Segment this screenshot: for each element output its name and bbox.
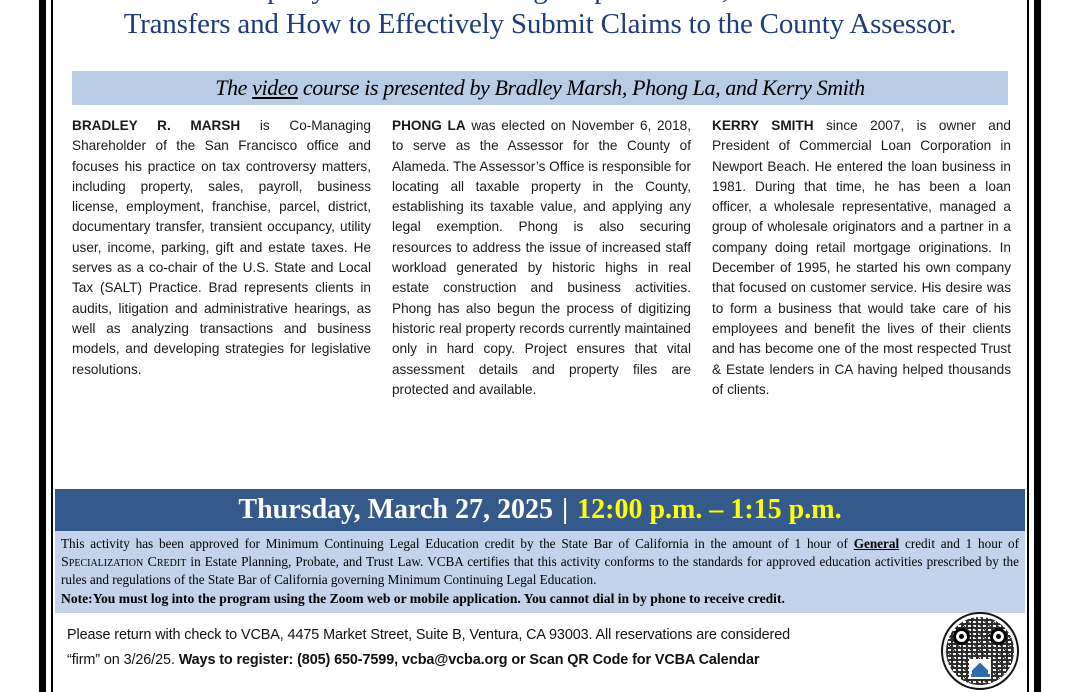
presenter-text: The video course is presented by Bradley… xyxy=(215,75,864,101)
speaker-bios: BRADLEY R. MARSH is Co-Managing Sharehol… xyxy=(72,116,1012,400)
datetime-separator: | xyxy=(553,494,577,526)
bio-kerry-smith: KERRY SMITH since 2007, is owner and Pre… xyxy=(712,116,1011,400)
logo-base-shape xyxy=(971,674,990,677)
presenter-suffix: course is presented by Bradley Marsh, Ph… xyxy=(298,75,865,100)
flyer-page: in Property Tax Law including Propositio… xyxy=(0,0,1080,675)
mcle-part-3: in Estate Planning, Probate, and Trust L… xyxy=(61,554,1019,588)
presenter-prefix: The xyxy=(215,75,252,100)
presenter-banner: The video course is presented by Bradley… xyxy=(72,71,1008,105)
footer-line-2: “firm” on 3/26/25. Ways to register: (80… xyxy=(67,648,1025,673)
bio-bradley-marsh: BRADLEY R. MARSH is Co-Managing Sharehol… xyxy=(72,116,371,400)
zoom-note: Note:You must log into the program using… xyxy=(61,590,1019,608)
bio-text-1: was elected on November 6, 2018, to serv… xyxy=(392,118,691,397)
presenter-underlined-word: video xyxy=(252,75,298,100)
title-line-1: in Property Tax Law including Propositio… xyxy=(55,0,1025,7)
registration-footer: Please return with check to VCBA, 4475 M… xyxy=(55,613,1025,675)
mcle-part-1: This activity has been approved for Mini… xyxy=(61,536,854,551)
footer-firm-date: “firm” on 3/26/25. xyxy=(67,652,179,668)
vcba-logo-icon xyxy=(969,659,991,679)
qr-finder-top-right-icon xyxy=(990,628,1007,645)
footer-line-1: Please return with check to VCBA, 4475 M… xyxy=(67,623,1025,648)
mcle-general-credit: General xyxy=(854,536,899,551)
event-datetime-bar: Thursday, March 27, 2025 | 12:00 p.m. – … xyxy=(55,489,1025,531)
qr-code[interactable] xyxy=(941,612,1019,690)
page-title: in Property Tax Law including Propositio… xyxy=(55,0,1025,42)
event-date: Thursday, March 27, 2025 xyxy=(238,494,553,526)
qr-finder-top-left-icon xyxy=(953,628,970,645)
mcle-specialization-credit: Specialization Credit xyxy=(61,555,186,570)
bio-phong-la: PHONG LA was elected on November 6, 2018… xyxy=(392,116,691,400)
bio-name-0: BRADLEY R. MARSH xyxy=(72,118,240,133)
bio-text-0: is Co-Managing Shareholder of the San Fr… xyxy=(72,118,371,377)
footer-register-info: Ways to register: (805) 650-7599, vcba@v… xyxy=(179,652,760,668)
flyer-content: in Property Tax Law including Propositio… xyxy=(55,0,1025,675)
bio-name-2: KERRY SMITH xyxy=(712,118,814,133)
title-line-2: Transfers and How to Effectively Submit … xyxy=(55,7,1025,42)
mcle-paragraph: This activity has been approved for Mini… xyxy=(61,535,1019,589)
qr-code-circle[interactable] xyxy=(941,612,1019,690)
bio-name-1: PHONG LA xyxy=(392,118,466,133)
bio-text-2: since 2007, is owner and President of Co… xyxy=(712,118,1011,397)
mcle-credit-block: This activity has been approved for Mini… xyxy=(55,531,1025,613)
event-time: 12:00 p.m. – 1:15 p.m. xyxy=(577,494,841,526)
mcle-part-2: credit and 1 hour of xyxy=(899,536,1019,551)
